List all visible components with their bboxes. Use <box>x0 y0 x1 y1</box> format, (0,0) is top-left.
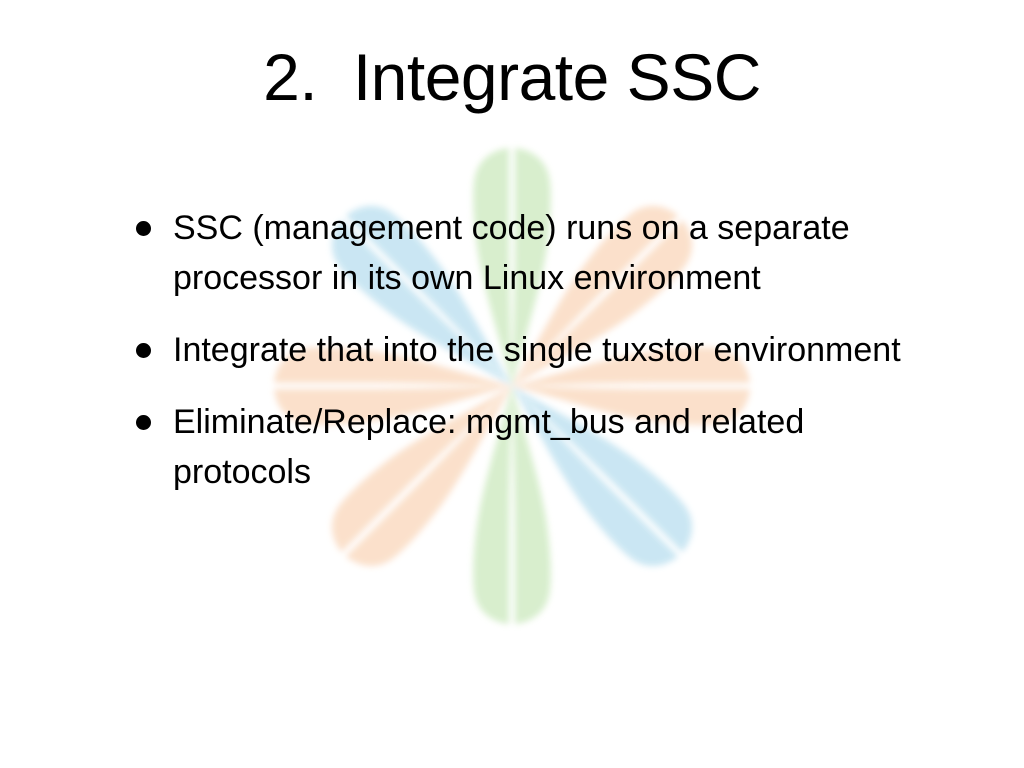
list-item: SSC (management code) runs on a separate… <box>130 203 942 303</box>
bullet-text: Eliminate/Replace: mgmt_bus and related … <box>173 397 942 497</box>
slide-title: 2. Integrate SSC <box>0 44 1024 110</box>
bullet-list: SSC (management code) runs on a separate… <box>130 203 942 497</box>
bullet-dot-icon <box>136 221 151 236</box>
list-item: Integrate that into the single tuxstor e… <box>130 325 942 375</box>
slide-canvas: 2. Integrate SSC SSC (management code) r… <box>0 0 1024 768</box>
bullet-dot-icon <box>136 415 151 430</box>
bullet-dot-icon <box>136 343 151 358</box>
bullet-text: SSC (management code) runs on a separate… <box>173 203 942 303</box>
list-item: Eliminate/Replace: mgmt_bus and related … <box>130 397 942 497</box>
bullet-text: Integrate that into the single tuxstor e… <box>173 325 942 375</box>
